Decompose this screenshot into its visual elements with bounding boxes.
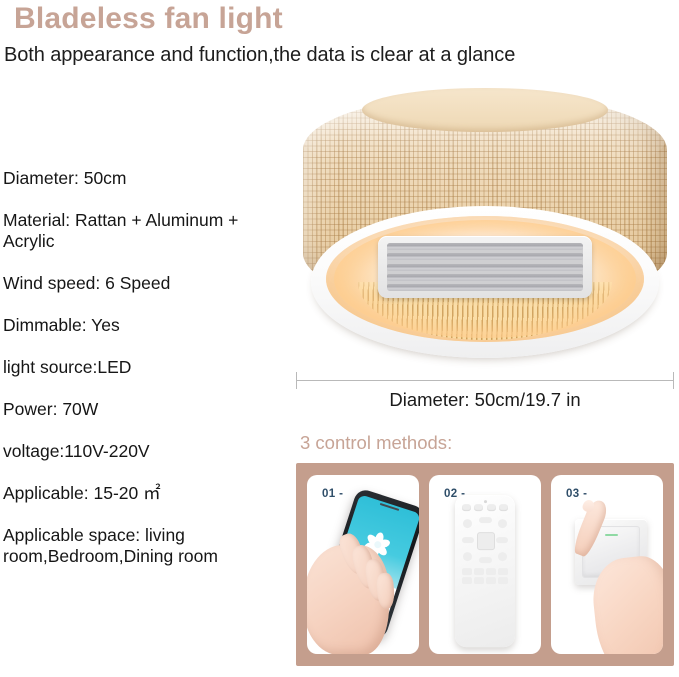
remote-up-button	[479, 517, 492, 523]
remote-key	[474, 577, 484, 584]
spec-item-diameter: Diameter: 50cm	[3, 168, 288, 189]
remote-key	[498, 568, 508, 575]
vent-slat	[387, 243, 583, 250]
wall-switch-icon	[551, 475, 663, 654]
product-infographic: Bladeless fan light Both appearance and …	[0, 0, 679, 677]
spec-item-material: Material: Rattan + Aluminum + Acrylic	[3, 210, 288, 252]
air-outlet-vent	[378, 236, 592, 298]
dimension-tick-right	[673, 372, 674, 389]
remote-key	[498, 577, 508, 584]
remote-key	[474, 568, 484, 575]
remote-down-button	[479, 557, 492, 563]
vent-slat	[387, 284, 583, 291]
vent-slat	[387, 274, 583, 281]
remote-left-button	[462, 537, 474, 543]
remote-button	[499, 504, 508, 511]
vent-slat	[387, 253, 583, 260]
spec-item-dimmable: Dimmable: Yes	[3, 315, 288, 336]
phone-speaker	[380, 503, 400, 511]
control-methods-heading-text: 3 control methods	[300, 432, 447, 453]
dimension-line	[296, 372, 674, 388]
remote-button	[462, 504, 471, 511]
remote-button	[498, 519, 507, 528]
remote-control	[455, 495, 515, 647]
spec-item-light-source: light source:LED	[3, 357, 288, 378]
specification-list: Diameter: 50cm Material: Rattan + Alumin…	[3, 168, 288, 567]
remote-key	[486, 568, 496, 575]
remote-keypad	[462, 568, 508, 585]
spec-item-voltage: voltage:110V-220V	[3, 441, 288, 462]
remote-button-row	[462, 504, 508, 511]
control-methods-heading-colon: :	[447, 432, 452, 453]
spec-item-power: Power: 70W	[3, 399, 288, 420]
remote-ir-led	[484, 500, 487, 503]
dimension-bar	[296, 380, 674, 381]
remote-key	[486, 577, 496, 584]
remote-button	[474, 504, 483, 511]
product-image	[296, 86, 674, 366]
control-methods-panel: 01 -	[296, 463, 674, 666]
switch-indicator-light	[605, 534, 618, 536]
vent-slat	[387, 264, 583, 271]
remote-control-icon	[429, 475, 541, 654]
remote-button	[463, 519, 472, 528]
phone-app-icon	[307, 475, 419, 654]
page-subtitle: Both appearance and function,the data is…	[4, 44, 515, 67]
control-methods-heading: 3 control methods:	[300, 432, 452, 454]
spec-item-applicable-space: Applicable space: living room,Bedroom,Di…	[3, 525, 288, 567]
dimension-caption: Diameter: 50cm/19.7 in	[296, 389, 674, 411]
remote-button	[487, 504, 496, 511]
vent-louver-group	[387, 243, 583, 291]
spec-item-applicable-area: Applicable: 15-20 ㎡	[3, 483, 288, 504]
remote-key	[462, 568, 472, 575]
remote-button	[463, 552, 472, 561]
control-method-card-remote[interactable]: 02 -	[429, 475, 541, 654]
page-title: Bladeless fan light	[14, 2, 283, 36]
remote-button	[498, 552, 507, 561]
spec-item-wind-speed: Wind speed: 6 Speed	[3, 273, 288, 294]
remote-right-button	[496, 537, 508, 543]
remote-key	[462, 577, 472, 584]
rattan-top-cap	[362, 88, 608, 132]
control-method-card-phone[interactable]: 01 -	[307, 475, 419, 654]
control-method-card-wall-switch[interactable]: 03 -	[551, 475, 663, 654]
ceiling-fan-light-illustration	[296, 86, 674, 358]
remote-center-button	[477, 532, 495, 550]
remote-dpad	[462, 517, 508, 563]
